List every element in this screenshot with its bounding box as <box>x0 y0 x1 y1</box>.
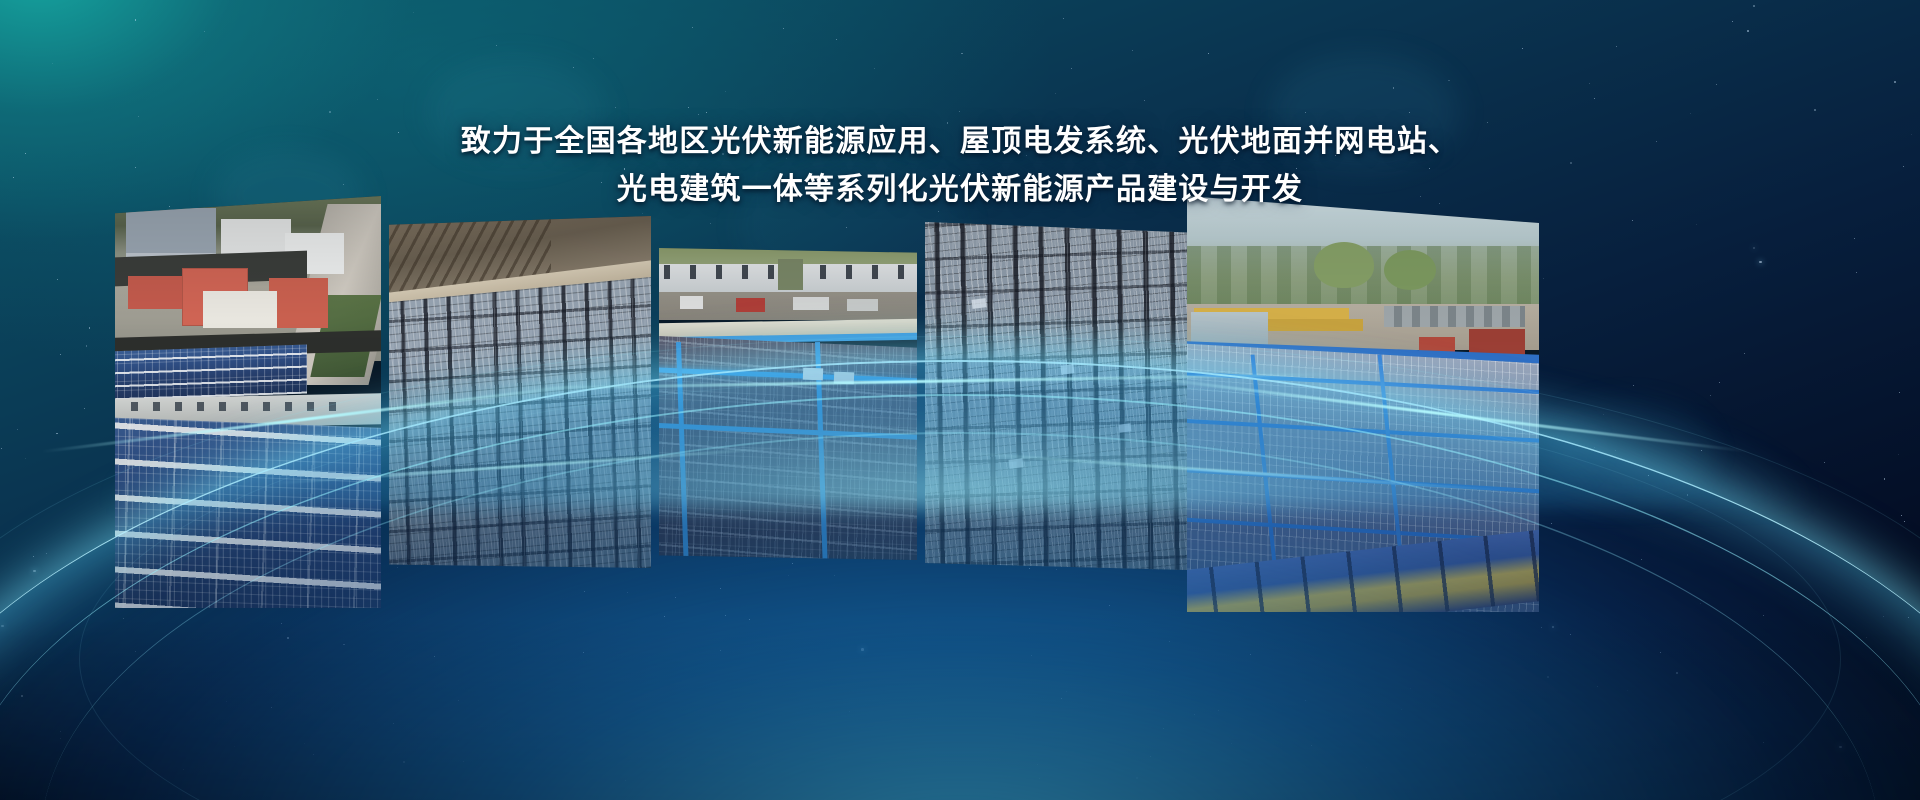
photo-5-image <box>1187 196 1539 612</box>
photo-4-image <box>925 222 1187 570</box>
photo-1-image <box>115 196 381 608</box>
headline-line-2: 光电建筑一体等系列化光伏新能源产品建设与开发 <box>0 166 1920 214</box>
photo-3-image <box>659 248 917 560</box>
gallery-photo-5[interactable] <box>1187 196 1539 612</box>
headline-block: 致力于全国各地区光伏新能源应用、屋顶电发系统、光伏地面并网电站、 光电建筑一体等… <box>0 118 1920 214</box>
gallery-photo-4[interactable] <box>925 222 1187 570</box>
hero-banner: 致力于全国各地区光伏新能源应用、屋顶电发系统、光伏地面并网电站、 光电建筑一体等… <box>0 0 1920 800</box>
headline-line-1: 致力于全国各地区光伏新能源应用、屋顶电发系统、光伏地面并网电站、 <box>0 118 1920 166</box>
gallery-photo-2[interactable] <box>389 216 651 568</box>
gallery-photo-1[interactable] <box>115 196 381 608</box>
photo-2-image <box>389 216 651 568</box>
gallery-photo-3[interactable] <box>659 248 917 560</box>
